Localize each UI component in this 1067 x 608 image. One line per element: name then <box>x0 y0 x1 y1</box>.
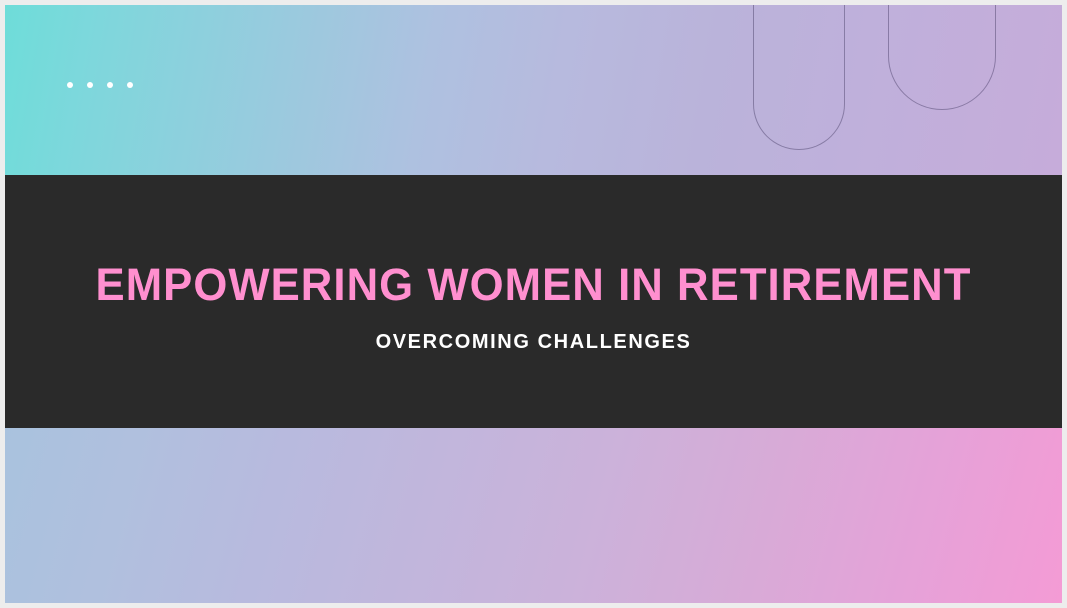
slide-subtitle[interactable]: OVERCOMING CHALLENGES <box>376 331 692 354</box>
slide-title[interactable]: EMPOWERING WOMEN IN RETIREMENT <box>96 261 972 308</box>
slide-canvas[interactable]: EMPOWERING WOMEN IN RETIREMENT OVERCOMIN… <box>5 5 1062 603</box>
dot-icon <box>87 82 93 88</box>
dot-group-top-left <box>67 82 133 88</box>
bottom-gradient-band <box>5 428 1062 603</box>
capsule-outline-icon <box>753 5 845 150</box>
dot-icon <box>67 82 73 88</box>
dot-icon <box>127 82 133 88</box>
top-gradient-band <box>5 5 1062 175</box>
dot-icon <box>107 82 113 88</box>
title-block: EMPOWERING WOMEN IN RETIREMENT OVERCOMIN… <box>5 175 1062 428</box>
capsule-outline-icon <box>888 5 996 110</box>
slide-frame: EMPOWERING WOMEN IN RETIREMENT OVERCOMIN… <box>0 0 1067 608</box>
